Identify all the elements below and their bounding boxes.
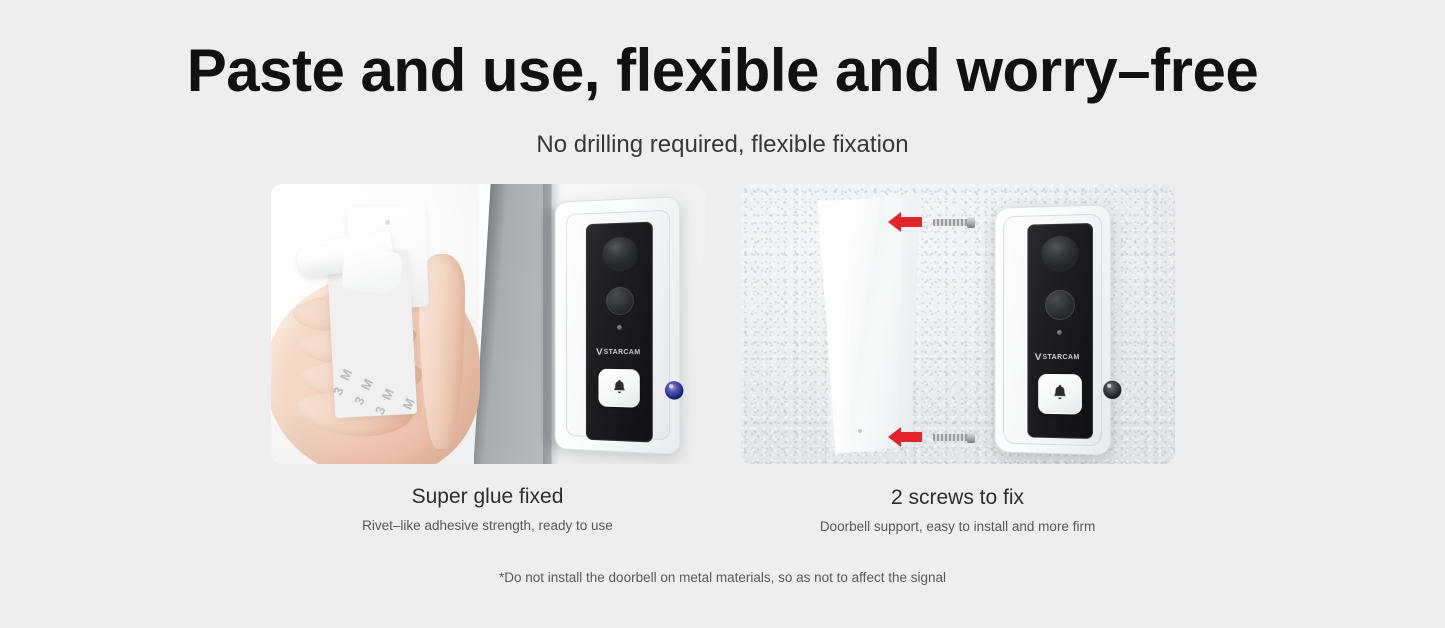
camera-lens-glint [669, 384, 673, 388]
screw-icon [933, 432, 975, 443]
page-header: Paste and use, flexible and worry–free N… [0, 0, 1445, 160]
caption-subtitle: Doorbell support, easy to install and mo… [741, 518, 1175, 536]
doorbell-speaker-dome [602, 236, 637, 271]
caption-subtitle: Rivet–like adhesive strength, ready to u… [271, 517, 705, 535]
adhesive-liner-fold [340, 247, 402, 295]
doorbell-device: V STARCAM [994, 204, 1111, 455]
brand-logo-mark: V [596, 347, 603, 357]
screw-callout-bottom [888, 427, 975, 447]
bell-icon [610, 377, 627, 398]
brand-logo: V STARCAM [1035, 352, 1079, 362]
status-led [616, 325, 621, 330]
screw-shank [933, 219, 968, 226]
two-screws-caption: 2 screws to fix Doorbell support, easy t… [741, 485, 1175, 536]
caption-title: 2 screws to fix [741, 485, 1175, 511]
super-glue-caption: Super glue fixed Rivet–like adhesive str… [271, 484, 705, 535]
doorbell-button[interactable] [598, 369, 639, 408]
feature-panel-two-screws: V STARCAM 2 screws to fix Doorbell suppo… [741, 184, 1175, 536]
adhesive-hang-hole [385, 220, 390, 225]
caption-title: Super glue fixed [271, 484, 705, 510]
brand-logo-text: STARCAM [1042, 353, 1079, 360]
arrow-left-icon [888, 212, 922, 232]
bracket-highlight [827, 202, 853, 450]
screw-callout-top [888, 212, 975, 232]
bracket-screw-hole [858, 429, 862, 433]
screw-head [967, 217, 975, 228]
feature-panel-super-glue: 3M 3M 3M 3M 3M 3M 3M 3M 3M 3M 3M 3M 3M 3… [271, 184, 705, 536]
doorbell-button[interactable] [1038, 374, 1082, 415]
status-led [1056, 330, 1061, 335]
arrow-tail [900, 432, 922, 442]
camera-lens [1103, 381, 1121, 400]
page-title: Paste and use, flexible and worry–free [0, 34, 1445, 108]
screw-icon [933, 217, 975, 228]
feature-panels: 3M 3M 3M 3M 3M 3M 3M 3M 3M 3M 3M 3M 3M 3… [0, 184, 1445, 536]
camera-lens-ring [606, 287, 634, 315]
camera-lens [664, 381, 682, 400]
doorbell-device: V STARCAM [554, 196, 680, 455]
brand-logo: V STARCAM [596, 347, 640, 357]
bell-icon [1051, 383, 1069, 405]
screw-shank [933, 434, 968, 441]
two-screws-photo: V STARCAM [741, 184, 1175, 464]
page-subtitle: No drilling required, flexible fixation [0, 130, 1445, 160]
camera-lens-glint [1107, 384, 1111, 388]
arrow-tail [900, 217, 922, 227]
super-glue-photo: 3M 3M 3M 3M 3M 3M 3M 3M 3M 3M 3M 3M 3M 3… [271, 184, 705, 464]
brand-logo-mark: V [1034, 352, 1041, 362]
doorbell-speaker-dome [1041, 235, 1079, 272]
arrow-left-icon [888, 427, 922, 447]
camera-lens-ring [1045, 290, 1075, 320]
footnote: *Do not install the doorbell on metal ma… [0, 569, 1445, 587]
screw-head [967, 432, 975, 443]
brand-logo-text: STARCAM [603, 348, 640, 355]
